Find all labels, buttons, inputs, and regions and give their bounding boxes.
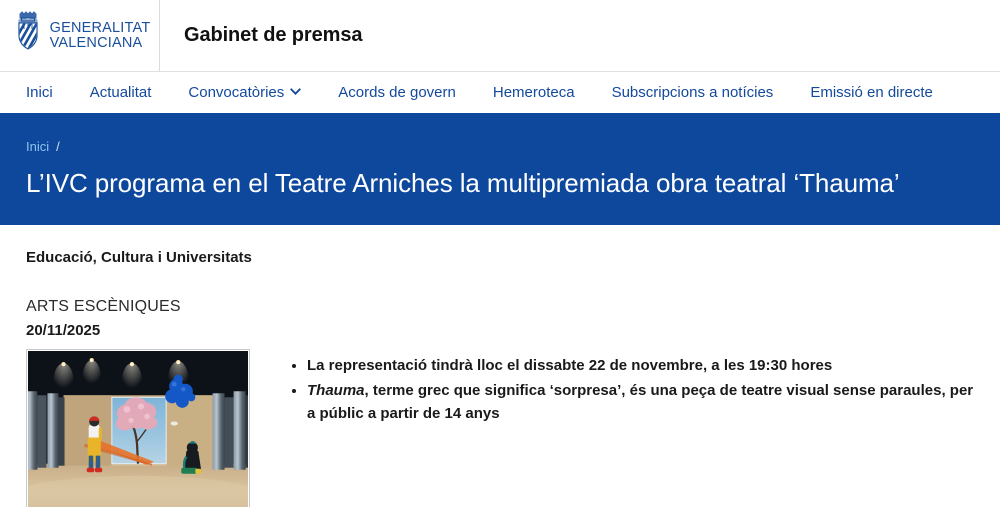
content-row: La representació tindrà lloc el dissabte… bbox=[26, 349, 974, 507]
brand-wordmark: GENERALITAT VALENCIANA bbox=[50, 21, 151, 51]
bullet-lead-term: Thauma bbox=[307, 382, 365, 399]
main-navigation: Inici Actualitat Convocatòries Acords de… bbox=[0, 72, 1000, 117]
category-kicker: ARTS ESCÈNIQUES bbox=[26, 298, 974, 316]
nav-item-label: Hemeroteca bbox=[493, 84, 575, 101]
nav-item-label: Subscripcions a notícies bbox=[612, 84, 774, 101]
department-label: Educació, Cultura i Universitats bbox=[26, 249, 974, 266]
nav-item-label: Inici bbox=[26, 84, 53, 101]
site-header: GENERALITAT VALENCIANA Gabinet de premsa bbox=[0, 0, 1000, 72]
bullet-text: , terme grec que significa ‘sorpresa’, é… bbox=[307, 382, 973, 422]
chevron-down-icon[interactable] bbox=[290, 86, 301, 97]
nav-item-hemeroteca[interactable]: Hemeroteca bbox=[493, 84, 600, 101]
generalitat-valenciana-logo[interactable]: GENERALITAT VALENCIANA bbox=[13, 11, 151, 60]
nav-item-emissio-en-directe[interactable]: Emissió en directe bbox=[810, 84, 933, 101]
nav-item-label: Emissió en directe bbox=[810, 84, 933, 101]
breadcrumb-item-inici[interactable]: Inici bbox=[26, 139, 49, 154]
nav-item-acords-de-govern[interactable]: Acords de govern bbox=[338, 84, 481, 101]
coat-of-arms-icon bbox=[13, 11, 43, 60]
nav-item-label: Convocatòries bbox=[188, 84, 284, 101]
brand-wordmark-line2: VALENCIANA bbox=[50, 36, 151, 51]
nav-item-inici[interactable]: Inici bbox=[26, 84, 78, 101]
nav-item-label: Acords de govern bbox=[338, 84, 456, 101]
nav-item-actualitat[interactable]: Actualitat bbox=[90, 84, 177, 101]
article-image-frame bbox=[26, 349, 250, 507]
nav-item-label: Actualitat bbox=[90, 84, 152, 101]
brand-block[interactable]: GENERALITAT VALENCIANA bbox=[0, 0, 160, 71]
list-item: La representació tindrà lloc el dissabte… bbox=[307, 355, 974, 378]
article-headline: L’IVC programa en el Teatre Arniches la … bbox=[26, 168, 974, 199]
hero-banner: Inici / L’IVC programa en el Teatre Arni… bbox=[0, 117, 1000, 225]
list-item: Thauma, terme grec que significa ‘sorpre… bbox=[307, 380, 974, 426]
stage-photo bbox=[28, 351, 248, 507]
header-title-block: Gabinet de premsa bbox=[160, 0, 362, 71]
publication-date: 20/11/2025 bbox=[26, 322, 974, 339]
breadcrumb-separator: / bbox=[56, 139, 60, 154]
bullet-text: La representació tindrà lloc el dissabte… bbox=[307, 357, 832, 374]
main-content: Educació, Cultura i Universitats ARTS ES… bbox=[0, 225, 1000, 507]
nav-item-subscripcions-a-noticies[interactable]: Subscripcions a notícies bbox=[612, 84, 799, 101]
breadcrumb: Inici / bbox=[26, 139, 974, 154]
nav-item-convocatories[interactable]: Convocatòries bbox=[188, 84, 326, 101]
key-points-list: La representació tindrà lloc el dissabte… bbox=[288, 355, 974, 427]
page-title: Gabinet de premsa bbox=[184, 24, 362, 47]
brand-wordmark-line1: GENERALITAT bbox=[50, 21, 151, 36]
